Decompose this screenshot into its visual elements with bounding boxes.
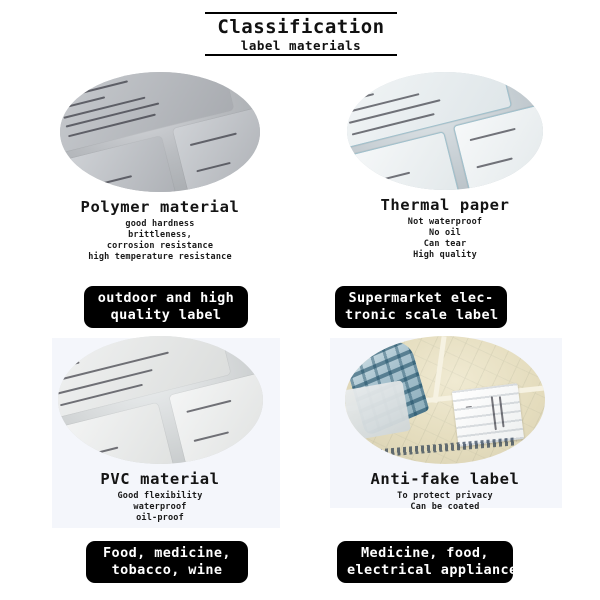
feature-line: Not waterproof bbox=[305, 217, 585, 228]
title-rule-bottom bbox=[205, 54, 397, 56]
feature-line: oil-proof bbox=[20, 513, 300, 524]
page-subtitle: label materials bbox=[205, 38, 397, 53]
card-features-thermal: Not waterproof No oil Can tear High qual… bbox=[305, 217, 585, 261]
photo-polymer-content bbox=[60, 72, 260, 192]
feature-line: Good flexibility bbox=[20, 491, 300, 502]
badge-line: tronic scale label bbox=[345, 307, 497, 324]
badge-medicine-food-electrical-appliances[interactable]: Medicine, food, electrical appliances bbox=[337, 541, 513, 583]
badge-food-medicine-tobacco-wine[interactable]: Food, medicine, tobacco, wine bbox=[86, 541, 248, 583]
badge-line: tobacco, wine bbox=[96, 562, 238, 579]
photo-polymer-material[interactable] bbox=[60, 72, 260, 192]
feature-line: Can tear bbox=[305, 239, 585, 250]
title-rule-top bbox=[205, 12, 397, 14]
badge-line: Food, medicine, bbox=[96, 545, 238, 562]
badge-line: outdoor and high bbox=[94, 290, 238, 307]
feature-line: high temperature resistance bbox=[20, 252, 300, 263]
badge-line: Medicine, food, bbox=[347, 545, 503, 562]
photo-thermal-paper[interactable] bbox=[347, 72, 543, 190]
feature-line: waterproof bbox=[20, 502, 300, 513]
feature-line: Can be coated bbox=[305, 502, 585, 513]
feature-line: No oil bbox=[305, 228, 585, 239]
card-thermal-paper[interactable]: Thermal paper Not waterproof No oil Can … bbox=[305, 72, 585, 282]
feature-line: good hardness bbox=[20, 219, 300, 230]
photo-anti-fake-content bbox=[345, 336, 545, 464]
badge-line: electrical appliances bbox=[347, 562, 503, 579]
photo-thermal-content bbox=[347, 72, 543, 190]
page-title: Classification bbox=[205, 16, 397, 38]
card-features-polymer: good hardness brittleness, corrosion res… bbox=[20, 219, 300, 263]
card-features-anti-fake: To protect privacy Can be coated bbox=[305, 491, 585, 513]
feature-line: To protect privacy bbox=[305, 491, 585, 502]
card-title-polymer: Polymer material bbox=[20, 198, 300, 216]
label-sheet-polymer bbox=[60, 72, 260, 192]
feature-line: corrosion resistance bbox=[20, 241, 300, 252]
label-tile-right bbox=[169, 373, 262, 464]
badge-outdoor-high-quality-label[interactable]: outdoor and high quality label bbox=[84, 286, 248, 328]
card-features-pvc: Good flexibility waterproof oil-proof bbox=[20, 491, 300, 524]
card-polymer-material[interactable]: Polymer material good hardness brittlene… bbox=[20, 72, 300, 282]
photo-pvc-content bbox=[58, 336, 263, 464]
photo-anti-fake-label[interactable] bbox=[345, 336, 545, 464]
photo-pvc-material[interactable] bbox=[58, 336, 263, 464]
page-title-block: Classification label materials bbox=[205, 12, 397, 56]
card-pvc-material[interactable]: PVC material Good flexibility waterproof… bbox=[20, 336, 300, 536]
card-anti-fake-label[interactable]: Anti-fake label To protect privacy Can b… bbox=[305, 336, 585, 536]
badge-supermarket-electronic-scale-label[interactable]: Supermarket elec- tronic scale label bbox=[335, 286, 507, 328]
liner-underside bbox=[345, 380, 411, 441]
card-title-pvc: PVC material bbox=[20, 470, 300, 488]
feature-line: brittleness, bbox=[20, 230, 300, 241]
badge-line: Supermarket elec- bbox=[345, 290, 497, 307]
label-sheet-pvc bbox=[58, 336, 263, 464]
card-title-thermal: Thermal paper bbox=[305, 196, 585, 214]
badge-line: quality label bbox=[94, 307, 238, 324]
feature-line: High quality bbox=[305, 250, 585, 261]
label-sheet-thermal bbox=[347, 72, 543, 190]
card-title-anti-fake: Anti-fake label bbox=[305, 470, 585, 488]
